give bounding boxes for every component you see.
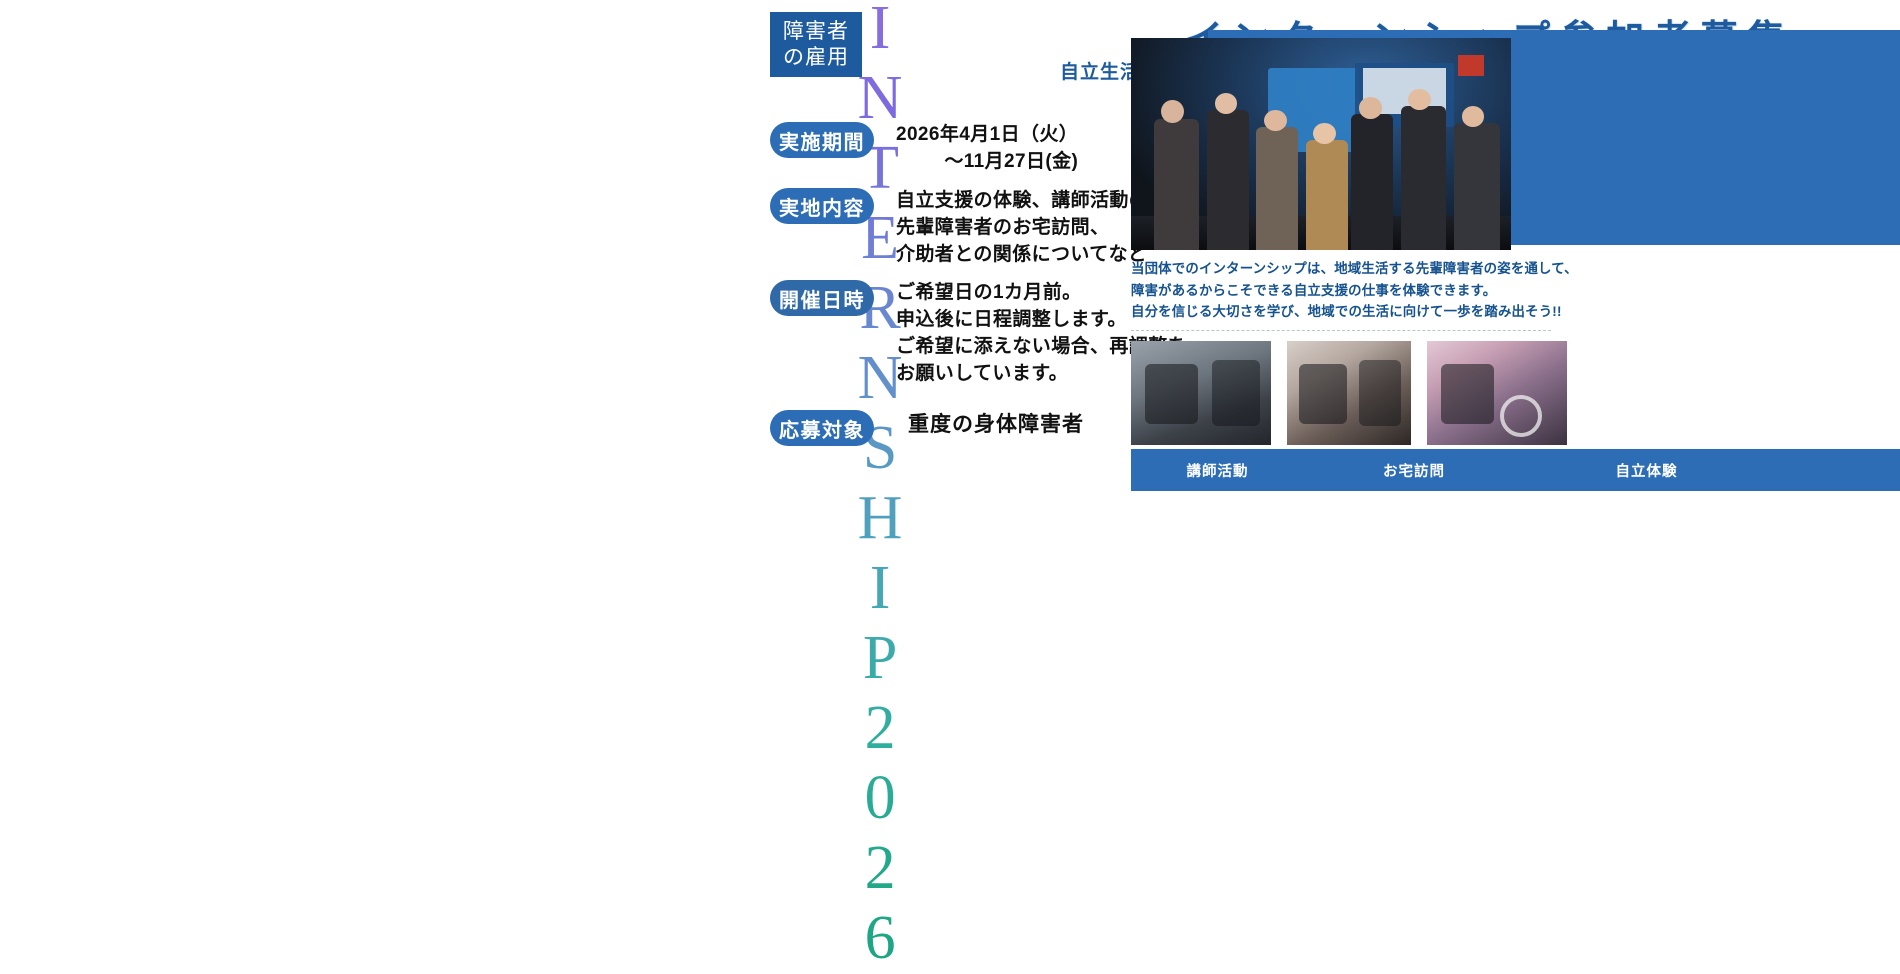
- info-row-period: 実施期間 2026年4月1日（火） ～11月27日(金): [770, 122, 1078, 176]
- badge-line-2: の雇用: [783, 45, 849, 71]
- thumbnail-strip: [1131, 341, 1845, 445]
- label-pill-schedule: 開催日時: [770, 280, 874, 316]
- thumbnail-independent-living: [1427, 341, 1567, 445]
- target-text: 重度の身体障害者: [908, 410, 1084, 440]
- poster-root: INTERNSHIP2026 障害者 の雇用 インターンシップ参加者募集 自立生…: [0, 0, 1900, 600]
- label-pill-content: 実地内容: [770, 188, 874, 224]
- lead-line-1: 当団体でのインターンシップは、地域生活する先輩障害者の姿を通して、: [1131, 258, 1561, 280]
- lead-line-3: 自分を信じる大切さを学び、地域での生活に向けて一歩を踏み出そう!!: [1131, 301, 1561, 323]
- caption-home-visit: お宅訪問: [1304, 460, 1524, 481]
- hero-head-4: [1313, 123, 1336, 144]
- caption-independent-living: 自立体験: [1524, 460, 1769, 481]
- hero-person-5: [1351, 114, 1393, 250]
- label-pill-target: 応募対象: [770, 410, 874, 446]
- wheelchair-icon: [1500, 395, 1542, 437]
- thumbnail-lecture-figure-a: [1145, 364, 1198, 424]
- hero-head-1: [1161, 100, 1184, 123]
- employment-badge: 障害者 の雇用: [770, 12, 862, 77]
- lead-paragraph: 当団体でのインターンシップは、地域生活する先輩障害者の姿を通して、 障害があるか…: [1131, 258, 1561, 323]
- hero-person-7: [1454, 123, 1500, 250]
- hero-person-2: [1207, 110, 1249, 250]
- info-row-target: 応募対象 重度の身体障害者: [770, 410, 1084, 446]
- hero-photo: [1131, 38, 1511, 250]
- period-line-1: 2026年4月1日（火）: [896, 122, 1078, 149]
- caption-lecture: 講師活動: [1131, 460, 1304, 481]
- hero-person-6: [1401, 106, 1447, 250]
- thumbnail-home-visit-figure-a: [1299, 364, 1346, 424]
- target-line-1: 重度の身体障害者: [908, 410, 1084, 440]
- hero-head-5: [1359, 97, 1382, 118]
- thumbnail-independent-living-figure-a: [1441, 364, 1494, 424]
- thumbnail-lecture-figure-b: [1212, 360, 1260, 427]
- info-row-schedule: 開催日時 ご希望日の1カ月前。 申込後に日程調整します。 ご希望に添えない場合、…: [770, 280, 1187, 388]
- hero-exit-sign: [1458, 55, 1485, 76]
- hero-person-4: [1306, 140, 1348, 250]
- caption-bar: 講師活動 お宅訪問 自立体験: [1131, 449, 1900, 491]
- hero-person-1: [1154, 119, 1200, 250]
- thumbnail-home-visit: [1287, 341, 1411, 445]
- hero-head-3: [1264, 110, 1287, 131]
- period-text: 2026年4月1日（火） ～11月27日(金): [896, 122, 1078, 176]
- label-pill-period: 実施期間: [770, 122, 874, 158]
- period-line-2: ～11月27日(金): [896, 149, 1078, 176]
- section-divider: [1131, 330, 1551, 331]
- thumbnail-lecture: [1131, 341, 1271, 445]
- hero-person-3: [1256, 127, 1298, 250]
- right-panel: 当団体でのインターンシップは、地域生活する先輩障害者の姿を通して、 障害があるか…: [1131, 0, 1900, 600]
- lead-line-2: 障害があるからこそできる自立支援の仕事を体験できます。: [1131, 280, 1561, 302]
- badge-line-1: 障害者: [783, 19, 849, 45]
- thumbnail-home-visit-figure-b: [1359, 360, 1401, 427]
